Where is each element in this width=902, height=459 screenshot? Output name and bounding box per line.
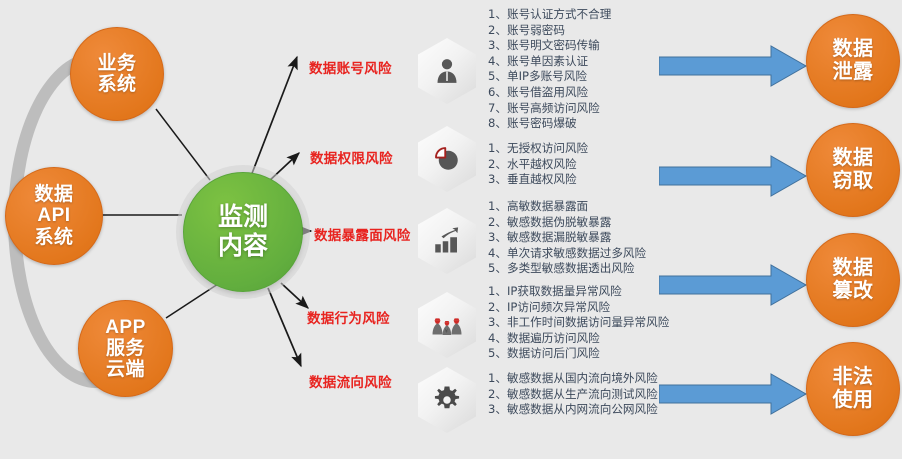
risk-list-item: 1、IP获取数据量异常风险 (488, 284, 669, 300)
risk-list-item: 4、单次请求敏感数据过多风险 (488, 246, 646, 262)
money-bags-icon: ￥ (430, 312, 464, 338)
category-label-privilege[interactable]: 数据权限风险 (310, 147, 393, 167)
hex-tile-flow[interactable] (418, 367, 476, 433)
bar-chart-up-icon (432, 226, 462, 256)
source-circle-label: APP服务云端 (105, 317, 146, 381)
outcome-circle-data-leak[interactable]: 数据泄露 (806, 14, 900, 108)
outcome-arrow-leak (659, 45, 807, 87)
risk-list-flow: 1、敏感数据从国内流向境外风险2、敏感数据从生产流向测试风险3、敏感数据从内网流… (488, 371, 658, 418)
source-circle-label: 业务系统 (97, 53, 136, 96)
hex-tile-privilege[interactable] (418, 126, 476, 192)
source-circle-data-api-system[interactable]: 数据API系统 (5, 167, 103, 265)
svg-text:￥: ￥ (444, 329, 449, 335)
outcome-arrow-illegal (659, 373, 807, 415)
risk-list-item: 3、账号明文密码传输 (488, 38, 611, 54)
source-circle-app-service-cloud[interactable]: APP服务云端 (78, 300, 173, 397)
risk-list-exposure: 1、高敏数据暴露面2、敏感数据伪脱敏暴露3、敏感数据漏脱敏暴露4、单次请求敏感数… (488, 199, 646, 277)
outcome-arrow-steal (659, 155, 807, 197)
risk-list-item: 2、敏感数据从生产流向测试风险 (488, 387, 658, 403)
risk-list-item: 4、数据遍历访问风险 (488, 331, 669, 347)
risk-list-item: 3、敏感数据漏脱敏暴露 (488, 230, 646, 246)
risk-list-item: 2、账号弱密码 (488, 23, 611, 39)
outcome-circle-label: 数据泄露 (833, 38, 874, 84)
risk-list-item: 1、敏感数据从国内流向境外风险 (488, 371, 658, 387)
risk-list-item: 8、账号密码爆破 (488, 116, 611, 132)
outcome-circle-label: 非法使用 (833, 366, 874, 412)
outcome-circle-data-steal[interactable]: 数据窃取 (806, 123, 900, 217)
risk-list-privilege: 1、无授权访问风险2、水平越权风险3、垂直越权风险 (488, 141, 588, 188)
risk-list-account: 1、账号认证方式不合理2、账号弱密码3、账号明文密码传输4、账号单因素认证5、单… (488, 7, 611, 132)
risk-list-item: 1、无授权访问风险 (488, 141, 588, 157)
risk-list-item: 5、单IP多账号风险 (488, 69, 611, 85)
category-label-exposure[interactable]: 数据暴露面风险 (314, 224, 411, 244)
outcome-circle-data-tamper[interactable]: 数据篡改 (806, 233, 900, 327)
risk-list-item: 6、账号借盗用风险 (488, 85, 611, 101)
hex-tile-account[interactable] (418, 38, 476, 104)
pie-chart-icon (432, 144, 462, 174)
center-circle-monitoring-content[interactable]: 监测内容 (183, 172, 303, 292)
hex-tile-behavior[interactable]: ￥ (418, 292, 476, 358)
gear-icon (433, 386, 462, 415)
diagram-canvas: 业务系统 数据API系统 APP服务云端 监测内容 数据账号风险 数据权限风险 … (0, 0, 902, 459)
center-circle-label: 监测内容 (218, 203, 268, 261)
outcome-circle-illegal-use[interactable]: 非法使用 (806, 342, 900, 436)
outcome-circle-label: 数据窃取 (833, 147, 874, 193)
category-label-flow[interactable]: 数据流向风险 (309, 371, 392, 391)
outcome-arrow-tamper (659, 264, 807, 306)
source-circle-business-system[interactable]: 业务系统 (70, 27, 164, 121)
outcome-circle-label: 数据篡改 (833, 257, 874, 303)
risk-list-item: 4、账号单因素认证 (488, 54, 611, 70)
risk-list-item: 1、高敏数据暴露面 (488, 199, 646, 215)
source-circle-label: 数据API系统 (34, 184, 73, 248)
risk-list-behavior: 1、IP获取数据量异常风险2、IP访问频次异常风险3、非工作时间数据访问量异常风… (488, 284, 669, 362)
risk-list-item: 2、水平越权风险 (488, 157, 588, 173)
risk-list-item: 5、数据访问后门风险 (488, 346, 669, 362)
risk-list-item: 3、非工作时间数据访问量异常风险 (488, 315, 669, 331)
risk-list-item: 3、垂直越权风险 (488, 172, 588, 188)
category-label-behavior[interactable]: 数据行为风险 (307, 307, 390, 327)
risk-list-item: 5、多类型敏感数据透出风险 (488, 261, 646, 277)
user-icon (432, 56, 462, 86)
hex-tile-exposure[interactable] (418, 208, 476, 274)
risk-list-item: 2、IP访问频次异常风险 (488, 300, 669, 316)
risk-list-item: 7、账号高频访问风险 (488, 101, 611, 117)
risk-list-item: 2、敏感数据伪脱敏暴露 (488, 215, 646, 231)
category-label-account[interactable]: 数据账号风险 (309, 57, 392, 77)
risk-list-item: 3、敏感数据从内网流向公网风险 (488, 402, 658, 418)
risk-list-item: 1、账号认证方式不合理 (488, 7, 611, 23)
